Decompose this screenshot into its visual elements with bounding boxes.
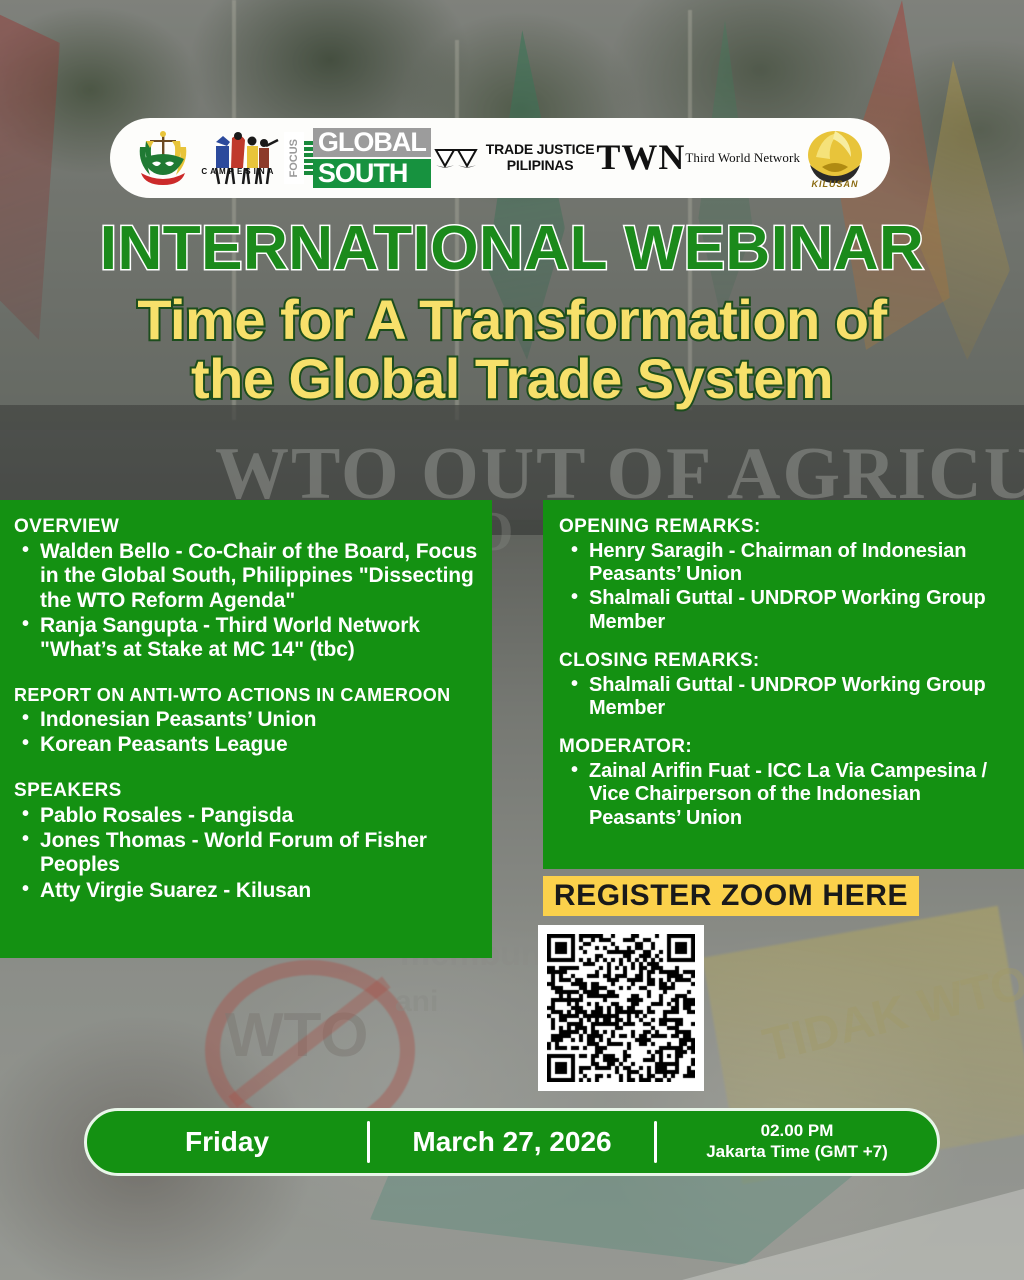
trade-justice-pilipinas-line1: TRADE JUSTICE: [486, 142, 595, 158]
trade-justice-pilipinas-logo-label: TRADE JUSTICE PILIPINAS: [486, 142, 595, 173]
opening-remarks-heading: OPENING REMARKS:: [559, 516, 1010, 538]
list-item: Henry Saragih - Chairman of Indonesian P…: [589, 540, 1010, 586]
third-world-network-abbr: TWN: [596, 141, 685, 175]
focus-global-south-logo-south-text: SOUTH: [313, 159, 431, 188]
organizer-logo-bar: CAMPESINA FOCUS GLOBAL SOUTH TRADE JUSTI…: [110, 118, 890, 198]
program-panel-left: OVERVIEW Walden Bello - Co-Chair of the …: [0, 500, 492, 958]
moderator-heading: MODERATOR:: [559, 736, 1010, 758]
third-world-network-full: Third World Network: [685, 151, 800, 165]
spi-logo: [132, 129, 194, 187]
list-item: Indonesian Peasants’ Union: [40, 708, 478, 732]
closing-remarks-section: CLOSING REMARKS: Shalmali Guttal - UNDRO…: [559, 650, 1010, 720]
register-zoom-button[interactable]: REGISTER ZOOM HERE: [543, 876, 919, 916]
trade-justice-pilipinas-logo: TRADE JUSTICE PILIPINAS: [433, 138, 595, 178]
poster-title-block: INTERNATIONAL WEBINAR Time for A Transfo…: [0, 218, 1024, 409]
list-item: Ranja Sangupta - Third World Network "Wh…: [40, 614, 478, 663]
moderator-section: MODERATOR: Zainal Arifin Fuat - ICC La V…: [559, 736, 1010, 830]
speakers-list: Pablo Rosales - Pangisda Jones Thomas - …: [14, 804, 478, 903]
la-via-campesina-logo-icon: CAMPESINA: [196, 128, 282, 188]
closing-remarks-list: Shalmali Guttal - UNDROP Working Group M…: [559, 674, 1010, 720]
focus-global-south-logo-wordmark: GLOBAL SOUTH: [313, 132, 431, 184]
focus-global-south-logo-bars: [304, 132, 313, 184]
report-heading: REPORT ON ANTI-WTO ACTIONS IN CAMEROON: [14, 685, 478, 706]
event-day: Friday: [87, 1111, 367, 1173]
speakers-heading: SPEAKERS: [14, 780, 478, 802]
trade-justice-pilipinas-line2: PILIPINAS: [486, 158, 595, 174]
focus-global-south-logo-global-text: GLOBAL: [313, 128, 431, 157]
la-via-campesina-logo: CAMPESINA: [196, 128, 282, 188]
list-item: Atty Virgie Suarez - Kilusan: [40, 879, 478, 903]
list-item: Shalmali Guttal - UNDROP Working Group M…: [589, 587, 1010, 633]
event-timezone-label: Jakarta Time (GMT +7): [706, 1142, 888, 1163]
opening-remarks-list: Henry Saragih - Chairman of Indonesian P…: [559, 540, 1010, 634]
scales-icon: [433, 138, 479, 178]
registration-qr-code[interactable]: [538, 925, 704, 1091]
event-date-label: March 27, 2026: [412, 1126, 611, 1158]
third-world-network-logo: TWN Third World Network: [596, 141, 800, 175]
kilusan-logo: KILUSAN: [802, 127, 868, 189]
program-panel-right: OPENING REMARKS: Henry Saragih - Chairma…: [543, 500, 1024, 869]
overview-section: OVERVIEW Walden Bello - Co-Chair of the …: [14, 516, 478, 663]
overview-heading: OVERVIEW: [14, 516, 478, 538]
la-via-campesina-logo-label: CAMPESINA: [196, 167, 282, 189]
event-time-label: 02.00 PM: [761, 1121, 834, 1142]
focus-global-south-logo-focus-text: FOCUS: [288, 139, 300, 178]
page-title: INTERNATIONAL WEBINAR: [0, 218, 1024, 280]
registration-qr-code-canvas[interactable]: [547, 934, 695, 1082]
focus-global-south-logo: FOCUS GLOBAL SOUTH: [284, 132, 431, 184]
kilusan-logo-label: KILUSAN: [802, 179, 868, 189]
list-item: Shalmali Guttal - UNDROP Working Group M…: [589, 674, 1010, 720]
list-item: Jones Thomas - World Forum of Fisher Peo…: [40, 829, 478, 878]
speakers-section: SPEAKERS Pablo Rosales - Pangisda Jones …: [14, 780, 478, 903]
event-time: 02.00 PM Jakarta Time (GMT +7): [657, 1111, 937, 1173]
poster-subtitle-line2: the Global Trade System: [0, 349, 1024, 408]
list-item: Korean Peasants League: [40, 733, 478, 757]
report-list: Indonesian Peasants’ Union Korean Peasan…: [14, 708, 478, 758]
moderator-list: Zainal Arifin Fuat - ICC La Via Campesin…: [559, 760, 1010, 830]
spi-logo-icon: [132, 129, 194, 187]
opening-remarks-section: OPENING REMARKS: Henry Saragih - Chairma…: [559, 516, 1010, 634]
list-item: Walden Bello - Co-Chair of the Board, Fo…: [40, 540, 478, 613]
focus-global-south-logo-focus: FOCUS: [284, 132, 304, 184]
event-day-label: Friday: [185, 1126, 269, 1158]
overview-list: Walden Bello - Co-Chair of the Board, Fo…: [14, 540, 478, 663]
list-item: Zainal Arifin Fuat - ICC La Via Campesin…: [589, 760, 1010, 830]
kilusan-logo-icon: KILUSAN: [802, 127, 868, 189]
report-section: REPORT ON ANTI-WTO ACTIONS IN CAMEROON I…: [14, 685, 478, 758]
closing-remarks-heading: CLOSING REMARKS:: [559, 650, 1010, 672]
list-item: Pablo Rosales - Pangisda: [40, 804, 478, 828]
poster-subtitle-line1: Time for A Transformation of: [0, 290, 1024, 349]
register-zoom-button-label: REGISTER ZOOM HERE: [554, 879, 908, 913]
event-datetime-bar: Friday March 27, 2026 02.00 PM Jakarta T…: [84, 1108, 940, 1176]
event-date: March 27, 2026: [370, 1111, 654, 1173]
